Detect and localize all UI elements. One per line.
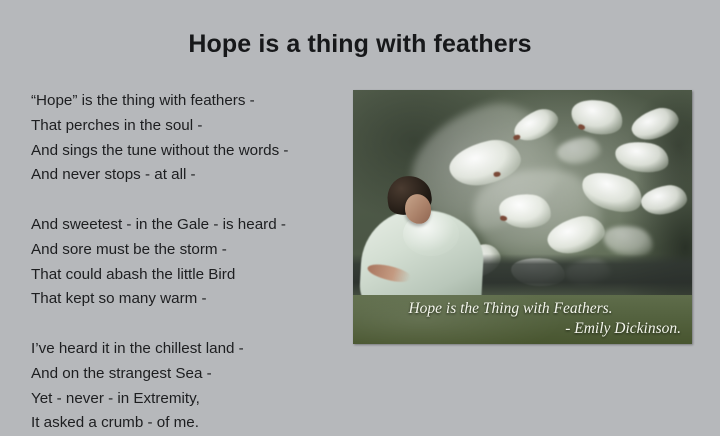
caption-attribution: - Emily Dickinson. <box>353 320 681 338</box>
page-title: Hope is a thing with feathers <box>0 29 720 59</box>
poem-line: And sings the tune without the words - <box>31 139 343 164</box>
poem-line: That perches in the soul - <box>31 114 343 139</box>
poem-line: And never stops - at all - <box>31 163 343 188</box>
poem-line: That could abash the little Bird <box>31 263 343 288</box>
dove-beak-icon <box>500 215 507 221</box>
poem-line: Yet - never - in Extremity, <box>31 387 343 412</box>
caption-quote: Hope is the Thing with Feathers. <box>353 300 668 318</box>
poem-line: And on the strangest Sea - <box>31 362 343 387</box>
artwork-image: Hope is the Thing with Feathers. - Emily… <box>353 90 692 344</box>
poem-line: That kept so many warm - <box>31 287 343 312</box>
artwork-caption: Hope is the Thing with Feathers. - Emily… <box>353 295 692 344</box>
poem-line: I’ve heard it in the chillest land - <box>31 337 343 362</box>
slide-canvas: Hope is a thing with feathers “Hope” is … <box>0 0 720 404</box>
poem-stanza: “Hope” is the thing with feathers - That… <box>31 89 343 188</box>
poem-stanza: And sweetest - in the Gale - is heard - … <box>31 213 343 312</box>
poem-text-block: “Hope” is the thing with feathers - That… <box>31 89 343 436</box>
poem-line: It asked a crumb - of me. <box>31 411 343 436</box>
poem-line: “Hope” is the thing with feathers - <box>31 89 343 114</box>
poem-line: And sweetest - in the Gale - is heard - <box>31 213 343 238</box>
poem-stanza: I’ve heard it in the chillest land - And… <box>31 337 343 436</box>
poem-line: And sore must be the storm - <box>31 238 343 263</box>
dove-beak-icon <box>493 171 501 177</box>
